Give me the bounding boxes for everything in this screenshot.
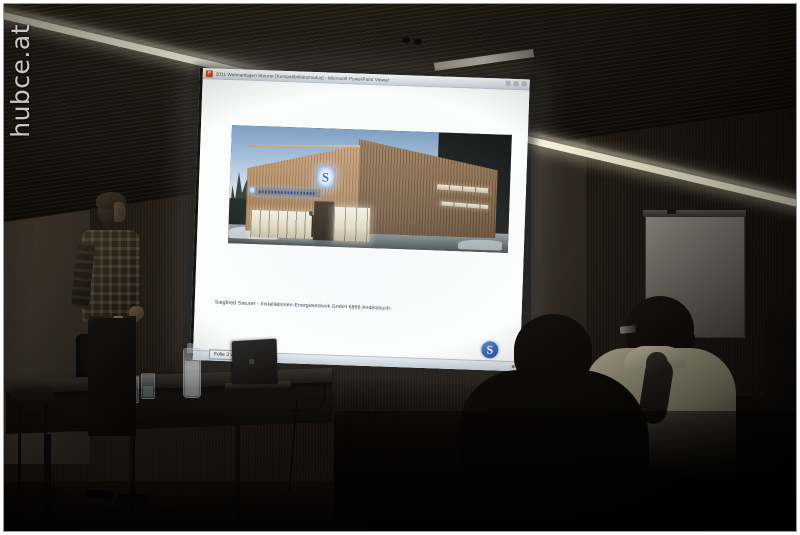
- laptop-lid: [232, 339, 278, 384]
- building-sign-emblem-icon: [249, 187, 254, 193]
- maximize-icon[interactable]: [514, 81, 519, 86]
- ceiling-spot-icon: [414, 39, 422, 45]
- screenshot-stage: P 2011 Wohnanlagen Steurer [Kompatibilit…: [0, 0, 800, 535]
- audience-head-right: [772, 300, 796, 346]
- foreground-shadow-left: [4, 481, 364, 531]
- water-carafe-neck: [187, 343, 194, 353]
- foreground-shadow: [334, 411, 796, 531]
- flipchart-top-bar: [643, 210, 746, 217]
- slide-content: S Siegfried Steurer - Installationen-Ene…: [193, 79, 530, 371]
- slide-corner-logo-icon: S: [481, 341, 499, 359]
- chair-backrest: [10, 386, 55, 406]
- presenter-face: [114, 202, 126, 222]
- slide-photo-building: S: [228, 125, 512, 253]
- window-controls[interactable]: [506, 81, 527, 87]
- slide-corner-logo-letter: S: [486, 343, 493, 355]
- screen-surface: P 2011 Wohnanlagen Steurer [Kompatibilit…: [190, 68, 530, 371]
- minimize-icon[interactable]: [506, 81, 511, 86]
- photo-snow-patch: [457, 239, 502, 250]
- water-carafe: [183, 348, 201, 398]
- watermark-hubce: hubce.at: [6, 24, 35, 138]
- conference-room: P 2011 Wohnanlagen Steurer [Kompatibilit…: [4, 4, 796, 531]
- window-band: [441, 201, 489, 209]
- building-lamp-head-icon: [308, 210, 312, 215]
- window-band: [436, 184, 489, 193]
- building-glazing-corner: [333, 207, 371, 242]
- slide-canvas[interactable]: S Siegfried Steurer - Installationen-Ene…: [193, 79, 530, 371]
- laptop-cable: [288, 384, 325, 411]
- slide-footer-text: Siegfried Steurer - Installationen-Energ…: [215, 300, 505, 316]
- powerpoint-icon: P: [206, 70, 213, 77]
- laptop-logo-icon: [249, 359, 254, 364]
- projection-screen: P 2011 Wohnanlagen Steurer [Kompatibilit…: [190, 68, 530, 371]
- presenter-trousers: [88, 318, 136, 436]
- water-glass: [141, 373, 155, 399]
- building-glazing-left: [251, 210, 314, 239]
- close-icon[interactable]: [522, 81, 527, 86]
- flipchart-clip-icon: [667, 209, 676, 214]
- building-logo-letter: S: [322, 170, 330, 183]
- ceiling-spot-icon: [402, 37, 410, 43]
- building-logo-s-icon: S: [317, 166, 335, 188]
- building-entrance: [313, 201, 334, 241]
- audience-hand: [646, 352, 668, 378]
